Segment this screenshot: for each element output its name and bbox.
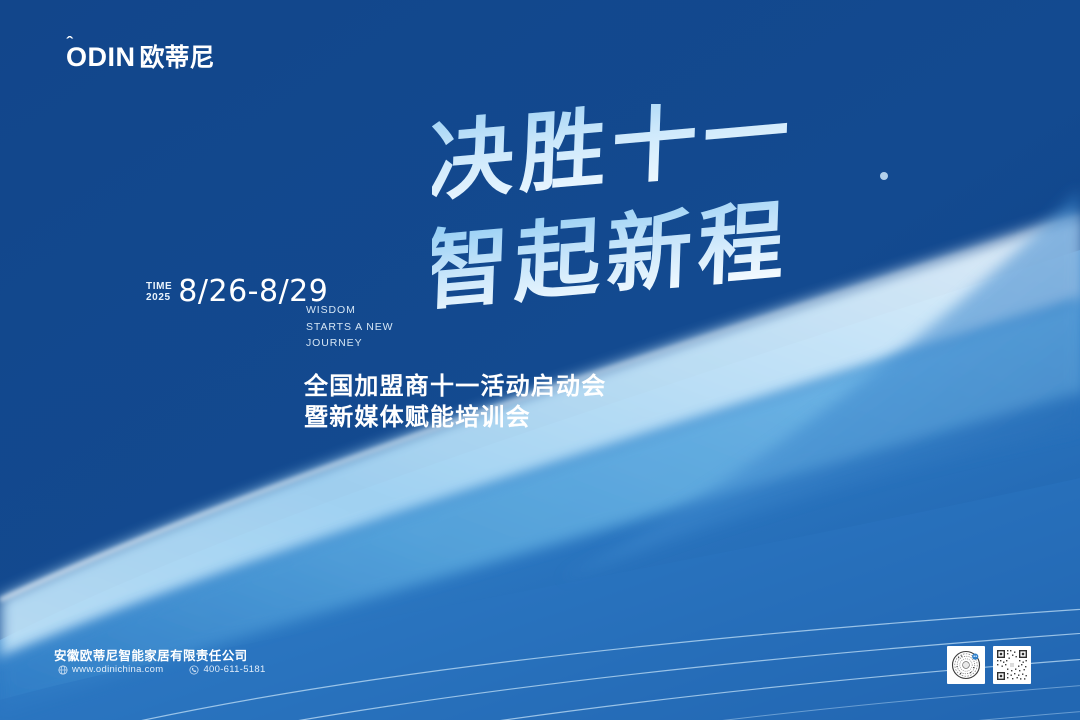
footer-company-name: 安徽欧蒂尼智能家居有限责任公司 bbox=[54, 645, 248, 664]
tagline-line-2: STARTS A NEW bbox=[306, 319, 393, 336]
footer-phone[interactable]: 400-611-5181 bbox=[189, 664, 265, 675]
tagline-line-1: WISDOM bbox=[306, 302, 393, 319]
mini-program-qr[interactable] bbox=[993, 646, 1031, 684]
wechat-official-account-qr[interactable] bbox=[947, 646, 985, 684]
globe-icon bbox=[58, 665, 68, 675]
footer-contact-bar: www.odinichina.com 400-611-5181 bbox=[58, 664, 266, 675]
footer-website[interactable]: www.odinichina.com bbox=[58, 664, 163, 675]
phone-icon bbox=[189, 665, 199, 675]
event-subtitle-line-1: 全国加盟商十一活动启动会 bbox=[304, 371, 606, 402]
macron-accent-icon: ˆ bbox=[66, 35, 72, 50]
brand-logo-latin: ˆODIN bbox=[66, 44, 136, 71]
time-label: TIME 2025 bbox=[146, 277, 172, 303]
event-subtitle: 全国加盟商十一活动启动会 暨新媒体赋能培训会 bbox=[304, 371, 606, 433]
brand-logo: ˆODIN 欧蒂尼 bbox=[66, 44, 215, 71]
time-label-word: TIME bbox=[146, 281, 172, 292]
tagline-line-3: JOURNEY bbox=[306, 335, 393, 352]
brand-logo-chinese: 欧蒂尼 bbox=[140, 45, 215, 70]
main-title-art: 决胜十一 智起新程 bbox=[432, 104, 912, 344]
event-date-block: TIME 2025 8/26-8/29 bbox=[146, 277, 328, 307]
footer-phone-text: 400-611-5181 bbox=[203, 664, 265, 675]
main-title-line2: 智起新程 bbox=[432, 191, 791, 323]
square-qr-code-icon bbox=[995, 648, 1029, 682]
qr-code-group bbox=[947, 646, 1031, 684]
footer-website-text: www.odinichina.com bbox=[72, 664, 163, 675]
main-title: 决胜十一 智起新程 bbox=[432, 104, 912, 344]
english-tagline: WISDOM STARTS A NEW JOURNEY bbox=[306, 302, 393, 352]
event-subtitle-line-2: 暨新媒体赋能培训会 bbox=[304, 402, 606, 433]
time-label-year: 2025 bbox=[146, 292, 172, 303]
circular-qr-badge-icon bbox=[949, 648, 983, 682]
event-poster: ˆODIN 欧蒂尼 决胜十一 智起新程 TI bbox=[0, 0, 1080, 720]
brand-logo-latin-rest: DIN bbox=[88, 42, 136, 72]
